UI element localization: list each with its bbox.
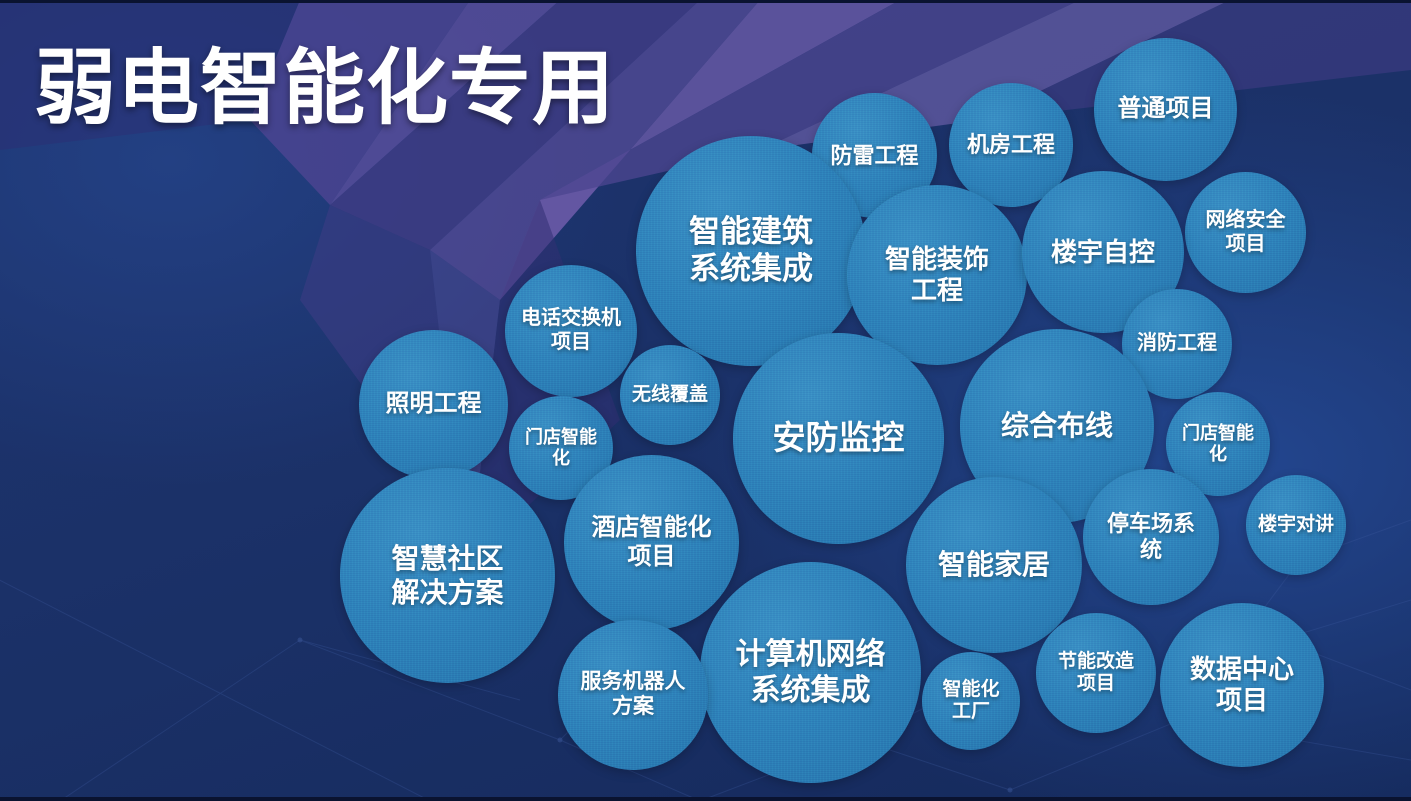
bubble-item[interactable]: 安防监控	[733, 333, 944, 544]
bubble-label: 机房工程	[961, 132, 1061, 158]
bubble-label: 安防监控	[767, 419, 911, 458]
bubble-label: 无线覆盖	[626, 384, 714, 406]
slide-canvas: 弱电智能化专用 防雷工程机房工程普通项目网络安全项目智能建筑系统集成智能装饰工程…	[0, 0, 1411, 801]
bubble-item[interactable]: 停车场系统	[1083, 469, 1219, 605]
bubble-label: 服务机器人方案	[575, 670, 692, 720]
bubble-label: 节能改造项目	[1052, 651, 1140, 696]
bubble-label: 智能建筑系统集成	[683, 214, 819, 287]
bubble-label: 智慧社区解决方案	[385, 542, 509, 608]
bubble-label: 消防工程	[1131, 332, 1223, 356]
bubble-label: 楼宇对讲	[1252, 514, 1340, 536]
bubble-label: 门店智能化	[1176, 423, 1260, 465]
page-title: 弱电智能化专用	[34, 46, 615, 133]
bubble-item[interactable]: 网络安全项目	[1185, 172, 1306, 293]
bubble-item[interactable]: 节能改造项目	[1036, 613, 1156, 733]
bubble-label: 网络安全项目	[1200, 209, 1292, 256]
bubble-item[interactable]: 智能建筑系统集成	[636, 136, 866, 366]
bubble-label: 门店智能化	[519, 427, 603, 469]
bubble-item[interactable]: 数据中心项目	[1160, 603, 1324, 767]
bubble-label: 电话交换机项目	[515, 307, 627, 354]
bubble-item[interactable]: 酒店智能化项目	[564, 455, 739, 630]
bubble-label: 数据中心项目	[1184, 654, 1300, 715]
bubble-label: 停车场系统	[1101, 511, 1201, 563]
bubble-label: 楼宇自控	[1045, 237, 1161, 268]
bubble-item[interactable]: 智能化工厂	[922, 652, 1020, 750]
bubble-label: 防雷工程	[824, 143, 924, 169]
bubble-item[interactable]: 无线覆盖	[620, 345, 720, 445]
bubble-label: 计算机网络系统集成	[730, 637, 892, 708]
bubble-item[interactable]: 普通项目	[1094, 38, 1237, 181]
bubble-item[interactable]: 照明工程	[359, 330, 508, 479]
bubble-item[interactable]: 服务机器人方案	[558, 620, 708, 770]
bubble-item[interactable]: 楼宇对讲	[1246, 475, 1346, 575]
bubble-item[interactable]: 计算机网络系统集成	[700, 562, 921, 783]
bubble-label: 综合布线	[995, 409, 1119, 442]
bubble-item[interactable]: 智能装饰工程	[847, 185, 1027, 365]
bubble-label: 智能家居	[932, 548, 1056, 581]
bubble-label: 智能化工厂	[936, 679, 1005, 724]
bubble-label: 照明工程	[380, 390, 488, 418]
bubble-label: 智能装饰工程	[879, 244, 995, 305]
bubble-label: 酒店智能化项目	[586, 514, 718, 571]
bubble-label: 普通项目	[1112, 95, 1220, 123]
bubble-item[interactable]: 智能家居	[906, 477, 1082, 653]
bubble-item[interactable]: 智慧社区解决方案	[340, 468, 555, 683]
bubble-item[interactable]: 电话交换机项目	[505, 265, 637, 397]
